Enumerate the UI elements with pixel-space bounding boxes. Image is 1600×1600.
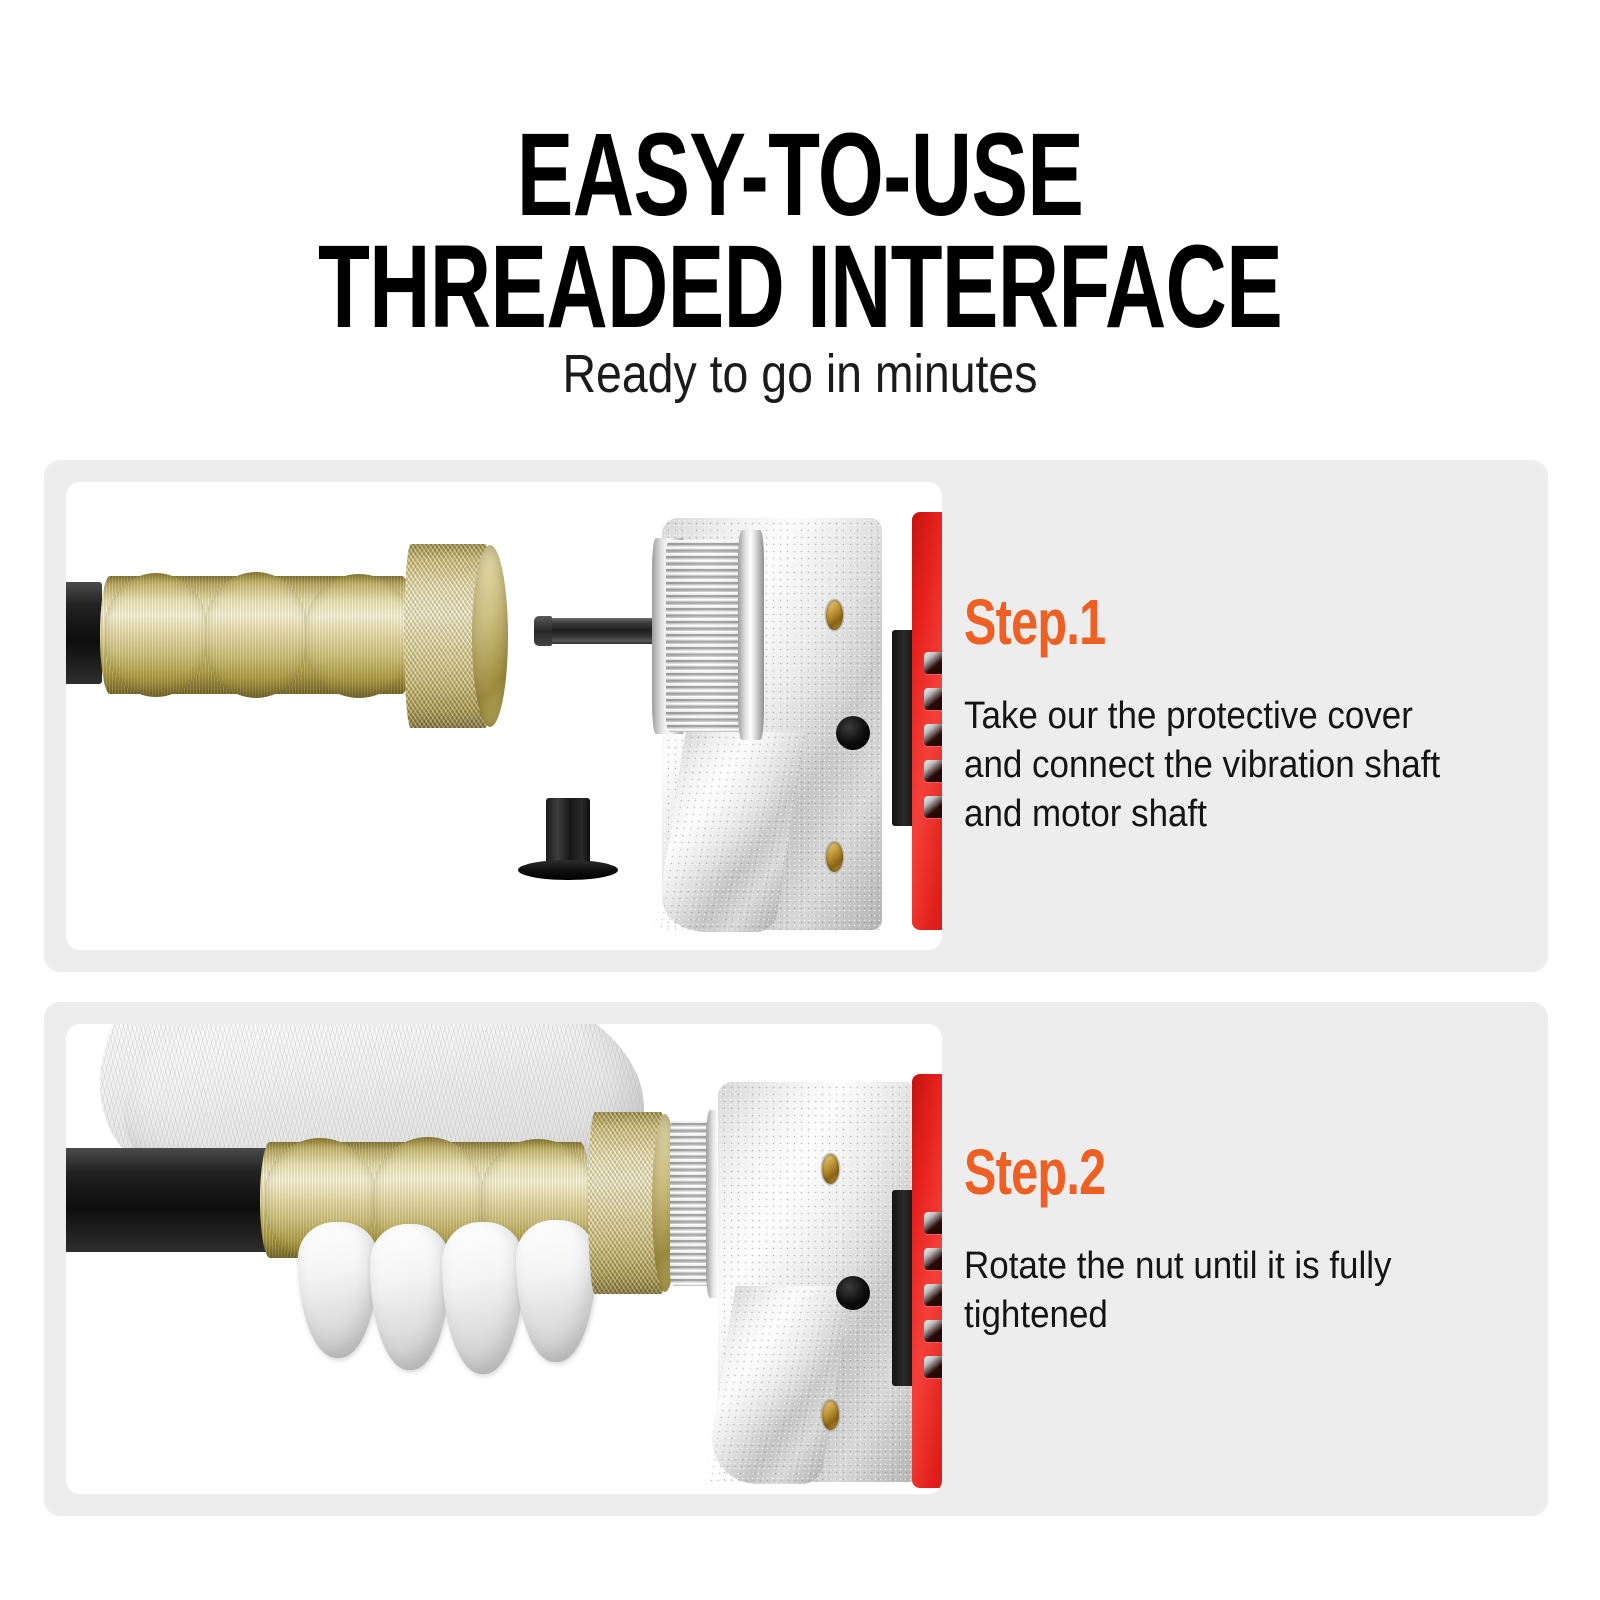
red-end-cap — [912, 1074, 942, 1488]
brass-head-segment-3 — [304, 574, 414, 698]
header: EASY-TO-USE THREADED INTERFACE Ready to … — [0, 0, 1600, 430]
red-cap-vent-slot-2 — [924, 1248, 942, 1270]
page-title-line-1: EASY-TO-USE — [224, 116, 1376, 234]
red-cap-vent-slot-5 — [924, 1356, 942, 1378]
page-title-line-2: THREADED INTERFACE — [224, 228, 1376, 346]
vibrator-hose — [66, 1148, 272, 1252]
step-panel-2: Step.2 Rotate the nut until it is fully … — [44, 1002, 1548, 1516]
step-2-product-illustration — [66, 1024, 942, 1494]
brass-head-segment-1 — [104, 573, 208, 697]
glove-finger-2 — [370, 1224, 450, 1370]
red-cap-vent-slot-4 — [924, 1320, 942, 1342]
housing-vent-port — [836, 1276, 870, 1310]
housing-vent-port — [836, 716, 870, 750]
step-1-label: Step.1 — [964, 590, 1105, 654]
step-1-text-column: Step.1 Take our the protective cover and… — [964, 460, 1524, 972]
red-cap-vent-slot-2 — [924, 688, 942, 710]
red-cap-vent-slot-1 — [924, 1212, 942, 1234]
protective-cover-cap-flange — [518, 860, 618, 880]
brass-nut-face — [472, 545, 508, 727]
step-2-photo — [66, 1024, 942, 1494]
step-2-description: Rotate the nut until it is fully tighten… — [964, 1242, 1479, 1340]
red-end-cap — [912, 512, 942, 930]
glove-finger-3 — [442, 1222, 524, 1374]
red-cap-vent-slot-3 — [924, 1284, 942, 1306]
red-cap-vent-slot-1 — [924, 652, 942, 674]
housing-screw-top — [826, 600, 843, 630]
step-panel-1: Step.1 Take our the protective cover and… — [44, 460, 1548, 972]
step-1-photo — [66, 482, 942, 950]
glove-finger-4 — [516, 1220, 596, 1362]
red-cap-vent-slot-5 — [924, 796, 942, 818]
step-1-product-illustration — [66, 482, 942, 950]
collar-shoulder-ring — [738, 530, 764, 740]
page-subtitle: Ready to go in minutes — [112, 344, 1488, 404]
vibrator-hose — [66, 582, 102, 684]
hex-shaft-tip — [534, 616, 552, 646]
step-2-label: Step.2 — [964, 1140, 1105, 1204]
glove-finger-1 — [298, 1222, 378, 1358]
housing-screw-top — [822, 1154, 839, 1184]
housing-screw-bottom — [822, 1400, 839, 1430]
step-1-description: Take our the protective cover and connec… — [964, 692, 1479, 839]
red-cap-vent-slot-4 — [924, 760, 942, 782]
step-2-text-column: Step.2 Rotate the nut until it is fully … — [964, 1002, 1524, 1516]
brass-head-segment-2 — [204, 572, 308, 698]
red-cap-vent-slot-3 — [924, 724, 942, 746]
housing-screw-bottom — [826, 842, 843, 872]
